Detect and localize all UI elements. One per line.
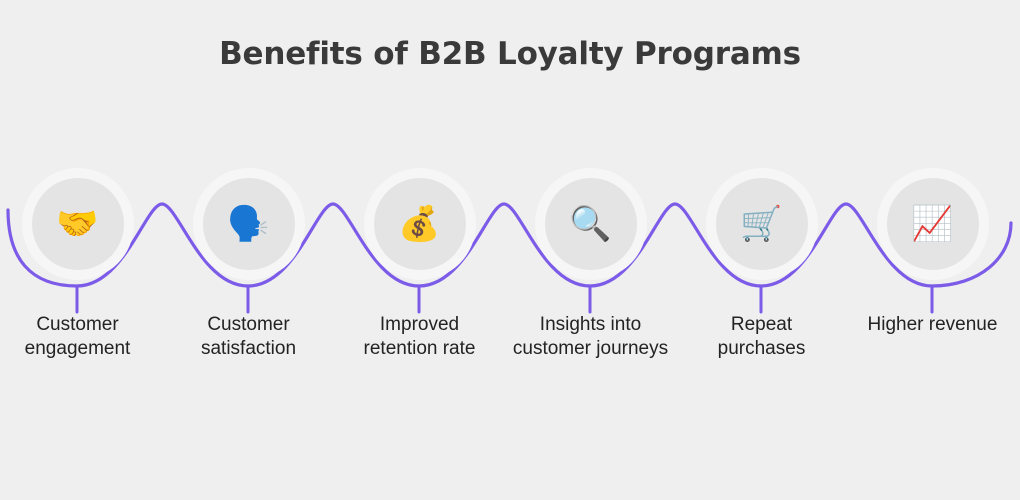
- step-1-label-line2: engagement: [0, 337, 163, 361]
- step-3-label-line2: retention rate: [335, 337, 505, 361]
- customer-retention-coin-icon: 💰: [398, 207, 440, 241]
- step-customer-satisfaction[interactable]: 🗣️ Customer satisfaction: [163, 0, 334, 500]
- step-6-inner-circle: 📈: [887, 178, 979, 270]
- step-2-label-line1: Customer: [164, 313, 334, 337]
- step-customer-engagement[interactable]: 🤝 Customer engagement: [0, 0, 163, 500]
- step-6-label-line1: Higher revenue: [848, 313, 1018, 337]
- step-repeat-purchases[interactable]: 🛒 Repeat purchases: [676, 0, 847, 500]
- infographic-canvas: Benefits of B2B Loyalty Programs 🤝 Custo…: [0, 0, 1020, 500]
- step-1-label: Customer engagement: [0, 313, 163, 361]
- step-5-label-line2: purchases: [677, 337, 847, 361]
- step-improved-retention-rate[interactable]: 💰 Improved retention rate: [334, 0, 505, 500]
- step-5-label: Repeat purchases: [677, 313, 847, 361]
- revenue-growth-coins-icon: 📈: [911, 207, 953, 241]
- person-thumbs-up-speech-bubble-icon: 🗣️: [227, 207, 269, 241]
- step-insights-into-customer-journeys[interactable]: 🔍 Insights into customer journeys: [505, 0, 676, 500]
- step-5-circle[interactable]: 🛒: [706, 168, 818, 280]
- step-2-inner-circle: 🗣️: [203, 178, 295, 270]
- step-2-label-line2: satisfaction: [164, 337, 334, 361]
- step-4-label-line2: customer journeys: [506, 337, 676, 361]
- step-3-label-line1: Improved: [335, 313, 505, 337]
- step-4-label-line1: Insights into: [506, 313, 676, 337]
- step-1-label-line1: Customer: [0, 313, 163, 337]
- shopping-cart-icon: 🛒: [740, 207, 782, 241]
- step-3-label: Improved retention rate: [335, 313, 505, 361]
- step-1-circle[interactable]: 🤝: [22, 168, 134, 280]
- steps-row: 🤝 Customer engagement 🗣️ Customer satisf…: [0, 0, 1020, 500]
- step-4-label: Insights into customer journeys: [506, 313, 676, 361]
- handshake-icon: 🤝: [56, 207, 98, 241]
- step-higher-revenue[interactable]: 📈 Higher revenue: [847, 0, 1018, 500]
- step-6-circle[interactable]: 📈: [877, 168, 989, 280]
- customer-insights-magnifier-icon: 🔍: [569, 207, 611, 241]
- step-1-inner-circle: 🤝: [32, 178, 124, 270]
- step-5-inner-circle: 🛒: [716, 178, 808, 270]
- step-4-inner-circle: 🔍: [545, 178, 637, 270]
- step-2-label: Customer satisfaction: [164, 313, 334, 361]
- step-3-inner-circle: 💰: [374, 178, 466, 270]
- step-2-circle[interactable]: 🗣️: [193, 168, 305, 280]
- step-3-circle[interactable]: 💰: [364, 168, 476, 280]
- step-5-label-line1: Repeat: [677, 313, 847, 337]
- step-4-circle[interactable]: 🔍: [535, 168, 647, 280]
- step-6-label: Higher revenue: [848, 313, 1018, 337]
